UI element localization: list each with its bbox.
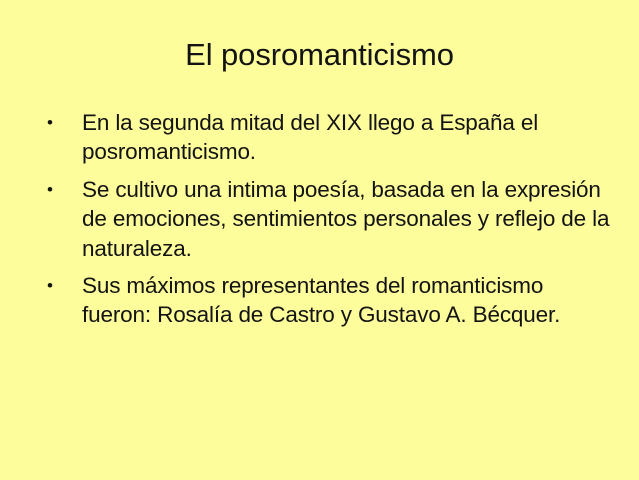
list-item-text: En la segunda mitad del XIX llego a Espa… [82, 108, 612, 167]
list-item: • En la segunda mitad del XIX llego a Es… [44, 108, 612, 167]
list-item-text: Se cultivo una intima poesía, basada en … [82, 175, 612, 263]
bullet-point-icon: • [47, 271, 69, 300]
bullet-list: • En la segunda mitad del XIX llego a Es… [44, 108, 612, 330]
list-item: • Sus máximos representantes del romanti… [44, 271, 612, 330]
list-item-text: Sus máximos representantes del romantici… [82, 271, 612, 330]
list-item: • Se cultivo una intima poesía, basada e… [44, 175, 612, 263]
page-title: El posromanticismo [0, 36, 639, 74]
presentation-slide: El posromanticismo • En la segunda mitad… [0, 0, 639, 480]
bullet-point-icon: • [47, 175, 69, 204]
bullet-point-icon: • [47, 108, 69, 137]
